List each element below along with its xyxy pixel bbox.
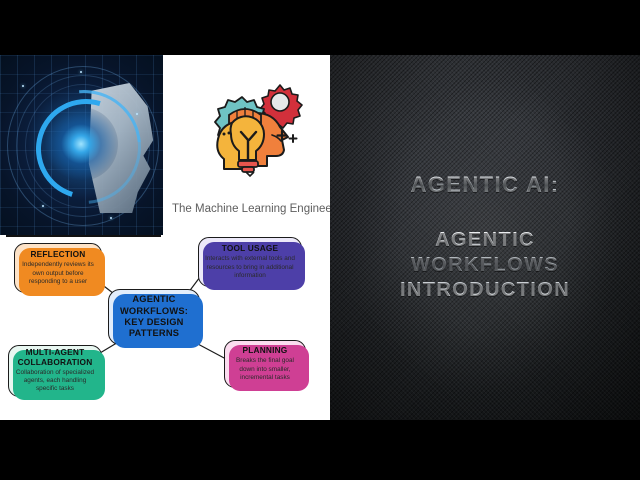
ai-robot-head-image <box>0 55 163 235</box>
slide-stage: The Machine Learning Engineer REFLECTION… <box>0 55 640 420</box>
video-frame: The Machine Learning Engineer REFLECTION… <box>0 0 640 480</box>
right-title-panel: AGENTIC AI: AGENTICWORKFLOWSINTRODUCTION <box>330 55 640 420</box>
node-title: REFLECTION <box>30 250 85 259</box>
left-slide-panel: The Machine Learning Engineer REFLECTION… <box>0 55 330 420</box>
diagram-node-tool-usage[interactable]: TOOL USAGE Interacts with external tools… <box>198 237 302 287</box>
title-subtitle: AGENTICWORKFLOWSINTRODUCTION <box>400 228 570 302</box>
node-title: TOOL USAGE <box>222 244 279 253</box>
diagram-node-planning[interactable]: PLANNING Breaks the final goal down into… <box>224 340 306 388</box>
diagram-node-center[interactable]: AGENTICWORKFLOWS:KEY DESIGNPATTERNS <box>108 289 200 345</box>
node-description: Collaboration of specialized agents, eac… <box>13 369 97 394</box>
node-title: MULTI-AGENTCOLLABORATION <box>18 348 93 367</box>
node-title: PLANNING <box>243 346 288 355</box>
spark-dot <box>42 205 44 207</box>
diagram-node-multi-agent-collaboration[interactable]: MULTI-AGENTCOLLABORATION Collaboration o… <box>8 345 102 397</box>
spark-dot <box>136 113 138 115</box>
logo-caption: The Machine Learning Engineer <box>172 203 330 215</box>
node-title: AGENTICWORKFLOWS:KEY DESIGNPATTERNS <box>120 294 188 339</box>
node-description: Breaks the final goal down into smaller,… <box>229 357 301 382</box>
spark-dot <box>110 217 112 219</box>
spark-dot <box>80 71 82 73</box>
spark-dot <box>22 85 24 87</box>
title-main: AGENTIC AI: <box>410 172 559 198</box>
diagram-node-reflection[interactable]: REFLECTION Independently reviews its own… <box>14 243 102 293</box>
machine-learning-engineer-logo <box>196 77 304 185</box>
node-description: Interacts with external tools and resour… <box>203 255 297 280</box>
agentic-workflow-diagram: REFLECTION Independently reviews its own… <box>0 235 330 420</box>
node-description: Independently reviews its own output bef… <box>19 261 97 286</box>
